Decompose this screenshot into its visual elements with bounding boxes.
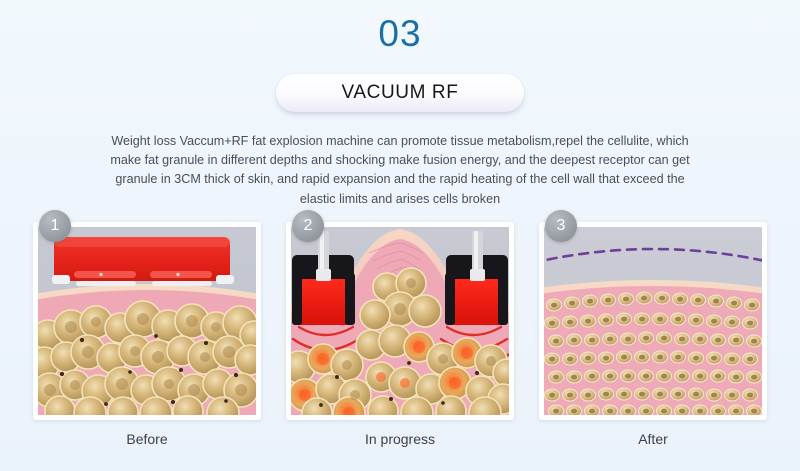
after-illustration-svg bbox=[544, 227, 762, 415]
panel-caption-1: Before bbox=[33, 431, 261, 447]
panel-row: 1 bbox=[0, 222, 800, 447]
step-number: 03 bbox=[0, 12, 800, 56]
handpiece-device bbox=[52, 237, 234, 286]
in-progress-illustration-svg bbox=[291, 227, 509, 415]
illustration-after bbox=[544, 227, 762, 415]
panel-caption-3: After bbox=[539, 431, 767, 447]
badge-container: VACUUM RF bbox=[0, 74, 800, 112]
before-illustration-svg bbox=[38, 227, 256, 415]
panel-frame-1 bbox=[33, 222, 261, 420]
feature-badge-label: VACUUM RF bbox=[342, 82, 459, 104]
illustration-in-progress bbox=[291, 227, 509, 415]
description-text: Weight loss Vaccum+RF fat explosion mach… bbox=[100, 132, 700, 209]
fat-granule-cluster bbox=[38, 301, 256, 415]
panel-number-badge-3: 3 bbox=[545, 210, 577, 242]
feature-badge: VACUUM RF bbox=[276, 74, 524, 112]
promo-slide: 03 VACUUM RF Weight loss Vaccum+RF fat e… bbox=[0, 0, 800, 471]
panel-frame-3 bbox=[539, 222, 767, 420]
illustration-before bbox=[38, 227, 256, 415]
panel-before: 1 bbox=[33, 222, 261, 447]
panel-number-badge-2: 2 bbox=[292, 210, 324, 242]
panel-frame-2 bbox=[286, 222, 514, 420]
panel-after: 3 bbox=[539, 222, 767, 447]
panel-in-progress: 2 bbox=[286, 222, 514, 447]
panel-caption-2: In progress bbox=[286, 431, 514, 447]
panel-number-badge-1: 1 bbox=[39, 210, 71, 242]
